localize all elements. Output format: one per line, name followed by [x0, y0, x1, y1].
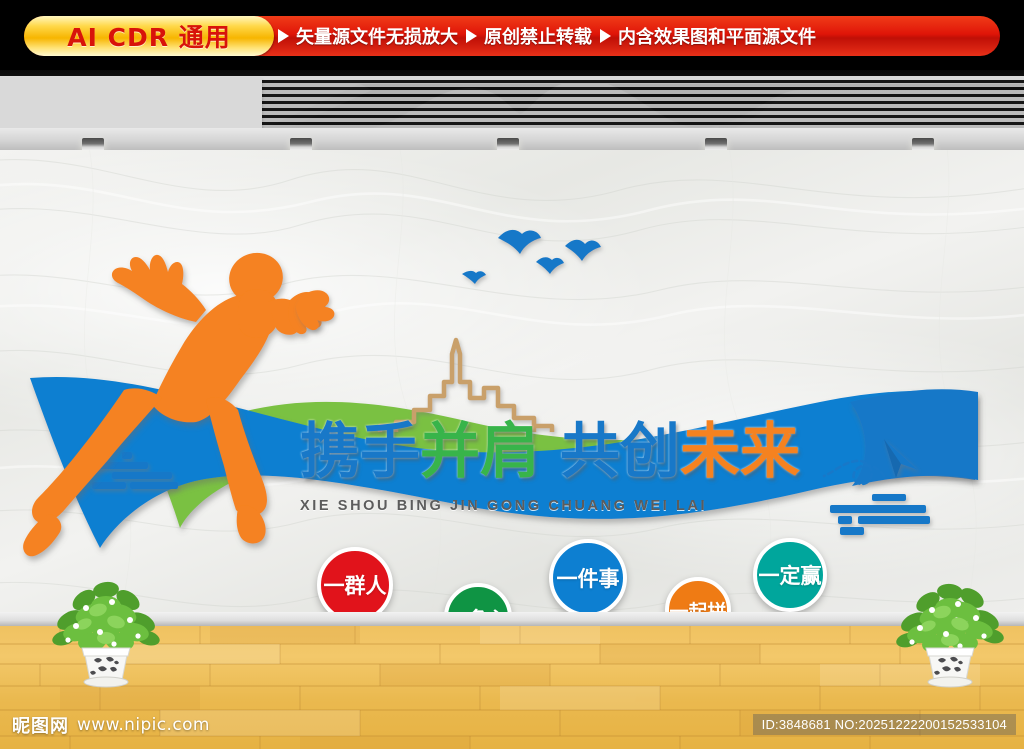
ceiling-panel-left: [0, 78, 262, 132]
ribbon-tail-right: [850, 389, 978, 486]
headline-part-3: 共创: [560, 422, 680, 482]
promo-banner: AI CDR 通用 矢量源文件无损放大 原创禁止转载 内含效果图和平面源文件: [0, 0, 1024, 70]
potted-plant-left: [46, 580, 166, 688]
wall-graphic: 携手 并肩 共创 未来 XIE SHOU BING JIN GONG CHUAN…: [0, 150, 1024, 620]
site-watermark: 昵图网 www.nipic.com: [12, 712, 210, 738]
headline-part-1: 携手: [300, 422, 420, 482]
bird-icon: [536, 257, 564, 274]
play-triangle-icon: [466, 29, 477, 43]
potted-plant-left-svg: [46, 580, 166, 688]
circle-badge-yijianshi: 一件事: [549, 539, 627, 617]
headline-part-4: 未来: [680, 422, 800, 482]
promo-badge: AI CDR 通用: [24, 16, 274, 56]
potted-plant-right-svg: [890, 580, 1010, 688]
flower-pot-icon: [926, 648, 974, 687]
play-triangle-icon: [278, 29, 289, 43]
site-watermark-cn: 昵图网: [12, 712, 69, 738]
promo-feature-label: 原创禁止转载: [484, 23, 592, 49]
bird-icon: [498, 230, 541, 254]
circle-label: 一定赢: [759, 560, 822, 590]
circle-label: 一件事: [557, 563, 620, 593]
headline: 携手 并肩 共创 未来: [300, 422, 860, 494]
promo-badge-label: AI CDR 通用: [67, 18, 230, 54]
screenshot-root: AI CDR 通用 矢量源文件无损放大 原创禁止转载 内含效果图和平面源文件: [0, 0, 1024, 749]
potted-plant-right: [890, 580, 1010, 688]
bird-icon: [462, 271, 486, 284]
headline-part-2: 并肩: [420, 422, 540, 482]
circle-badge-yidingying: 一定赢: [753, 538, 827, 612]
plant-foliage-icon: [895, 583, 1006, 655]
promo-feature-item: 内含效果图和平面源文件: [600, 23, 816, 49]
asset-id-watermark: ID:3848681 NO:20251222200152533104: [753, 714, 1016, 735]
promo-feature-label: 矢量源文件无损放大: [296, 23, 458, 49]
wall-graphic-svg: [0, 150, 1024, 620]
promo-feature-item: 原创禁止转载: [466, 23, 592, 49]
birds-group: [462, 230, 601, 284]
flower-pot-icon: [82, 648, 130, 687]
promo-feature-list: 矢量源文件无损放大 原创禁止转载 内含效果图和平面源文件: [278, 16, 1018, 56]
site-watermark-url: www.nipic.com: [77, 715, 210, 735]
promo-feature-label: 内含效果图和平面源文件: [618, 23, 816, 49]
headline-pinyin: XIE SHOU BING JIN GONG CHUANG WEI LAI: [300, 498, 840, 514]
bird-icon: [565, 240, 601, 261]
deco-lines-right: [830, 494, 930, 535]
promo-feature-item: 矢量源文件无损放大: [278, 23, 458, 49]
circle-label: 一群人: [324, 570, 387, 600]
play-triangle-icon: [600, 29, 611, 43]
plant-foliage-icon: [51, 580, 162, 652]
